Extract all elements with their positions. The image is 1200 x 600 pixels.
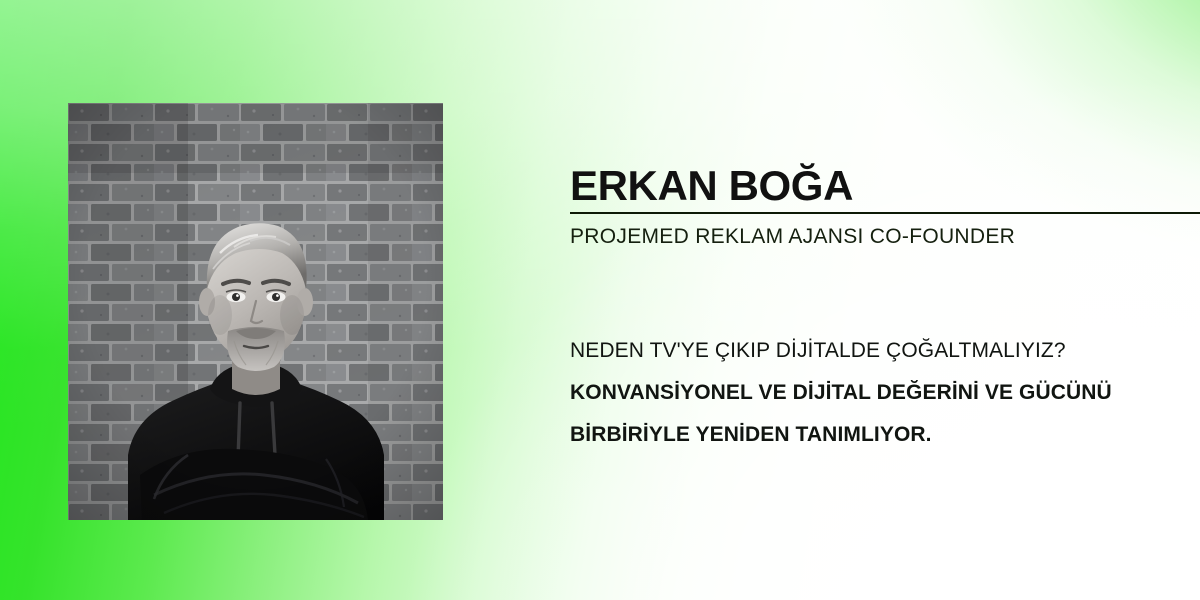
speaker-role: PROJEMED REKLAM AJANSI CO-FOUNDER — [570, 223, 1015, 251]
title-divider-rule — [570, 212, 1200, 214]
quote-block: NEDEN TV'YE ÇIKIP DİJİTALDE ÇOĞALTMALIYI… — [570, 330, 1190, 456]
speaker-name: ERKAN BOĞA — [570, 163, 853, 209]
speaker-portrait-photo — [68, 103, 443, 520]
quote-line-1: NEDEN TV'YE ÇIKIP DİJİTALDE ÇOĞALTMALIYI… — [570, 330, 1190, 372]
speaker-text-block: ERKAN BOĞA PROJEMED REKLAM AJANSI CO-FOU… — [570, 0, 1200, 600]
quote-line-2: KONVANSİYONEL VE DİJİTAL DEĞERİNİ VE GÜC… — [570, 372, 1190, 414]
quote-line-3: BİRBİRİYLE YENİDEN TANIMLIYOR. — [570, 414, 1190, 456]
portrait-illustration — [68, 103, 443, 520]
speaker-quote-slide: ERKAN BOĞA PROJEMED REKLAM AJANSI CO-FOU… — [0, 0, 1200, 600]
